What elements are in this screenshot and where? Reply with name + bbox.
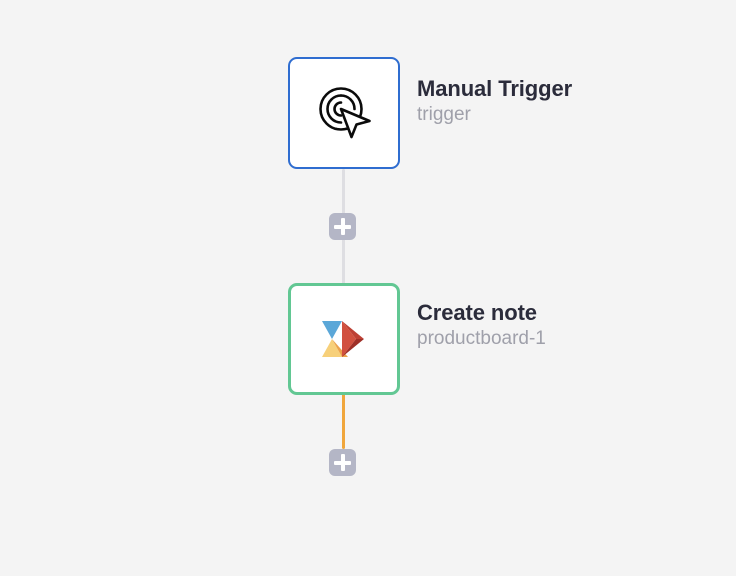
plus-icon-vertical (341, 454, 345, 471)
plus-icon-vertical (341, 218, 345, 235)
node-label-manual-trigger: Manual Trigger trigger (417, 77, 572, 125)
node-title: Create note (417, 301, 546, 324)
productboard-logo-icon (322, 319, 366, 359)
cursor-target-icon (311, 80, 377, 146)
node-manual-trigger[interactable] (288, 57, 400, 169)
node-label-create-note: Create note productboard-1 (417, 301, 546, 349)
node-subtitle: productboard-1 (417, 329, 546, 349)
workflow-canvas[interactable]: Manual Trigger trigger (0, 0, 736, 576)
add-node-button-1[interactable] (329, 213, 356, 240)
add-node-button-2[interactable] (329, 449, 356, 476)
connector-create-note-output[interactable] (342, 393, 345, 449)
node-create-note[interactable] (288, 283, 400, 395)
node-subtitle: trigger (417, 105, 572, 125)
node-title: Manual Trigger (417, 77, 572, 100)
